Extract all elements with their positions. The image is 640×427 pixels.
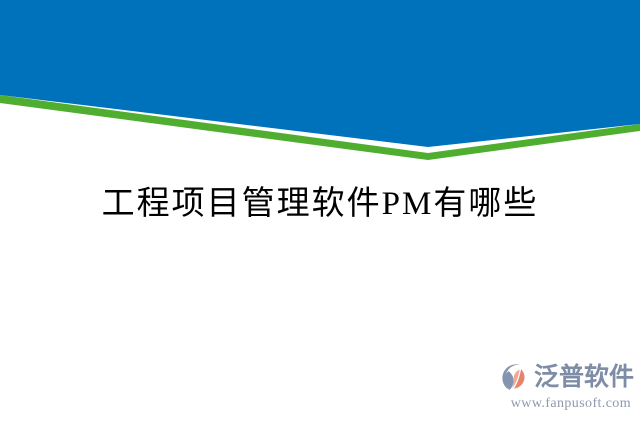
- slide-canvas: 工程项目管理软件PM有哪些 泛普软件 www.fanpusoft.com: [0, 0, 640, 427]
- logo-row: 泛普软件: [500, 359, 632, 395]
- brand-logo: 泛普软件 www.fanpusoft.com: [500, 359, 632, 417]
- fanpu-swoosh-icon: [500, 361, 532, 393]
- logo-url: www.fanpusoft.com: [500, 396, 632, 412]
- logo-wordmark: 泛普软件: [534, 362, 634, 392]
- page-title: 工程项目管理软件PM有哪些: [102, 182, 539, 226]
- banner-green-chevron: [0, 95, 640, 160]
- chevron-banner: [0, 0, 640, 160]
- title-block: 工程项目管理软件PM有哪些: [0, 182, 640, 226]
- banner-blue-chevron: [0, 0, 640, 147]
